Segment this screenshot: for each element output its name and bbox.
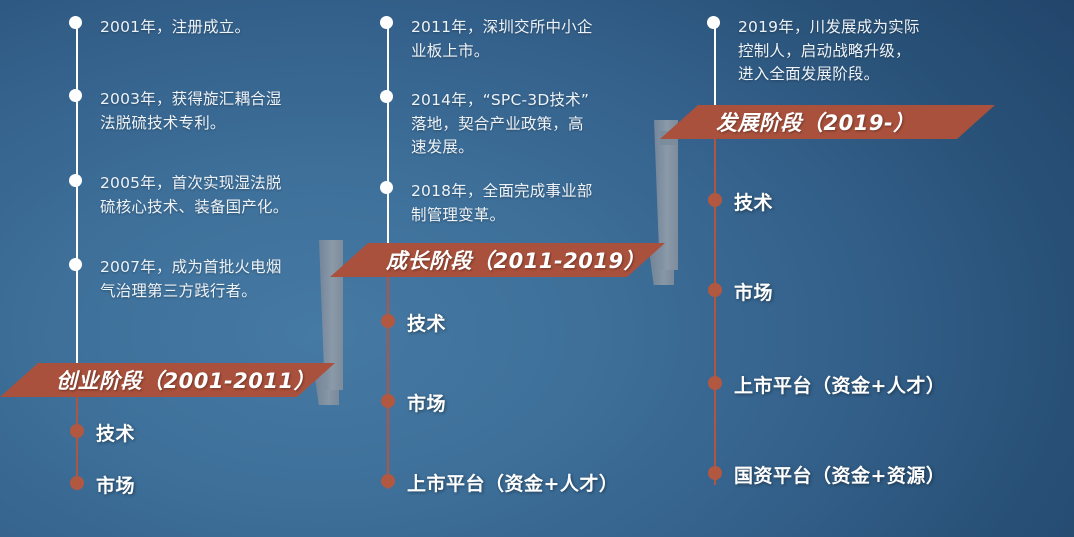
keyword-label-s3-k4: 国资平台（资金+资源） [734,461,945,488]
keyword-label-s3-k1: 技术 [734,188,773,215]
stage-banner-1[interactable]: 创业阶段（2001-2011） [0,363,335,397]
event-line: 硫核心技术、装备国产化。 [100,196,288,220]
keyword-label-s2-k3: 上市平台（资金+人才） [407,469,618,496]
event-line: 2007年，成为首批火电烟 [100,256,282,280]
event-line: 速发展。 [411,136,589,160]
keyword-label-s1-k2: 市场 [96,471,135,498]
stage-banner-3[interactable]: 发展阶段（2019-） [660,105,995,139]
event-line: 2003年，获得旋汇耦合湿 [100,88,282,112]
stage-banner-2[interactable]: 成长阶段（2011-2019） [330,243,665,277]
event-text-s1-e2: 2003年，获得旋汇耦合湿 法脱硫技术专利。 [100,88,282,135]
timeline-dot-s3-e1 [707,16,720,29]
event-text-s3-e1: 2019年，川发展成为实际 控制人，启动战略升级， 进入全面发展阶段。 [738,16,920,87]
timeline-dot-s2-e1 [380,16,393,29]
keyword-dot-s2-k1 [381,314,395,328]
event-line: 制管理变革。 [411,204,593,228]
stage-banner-3-label: 发展阶段（2019-） [716,107,915,137]
timeline-dot-s1-e1 [69,16,82,29]
event-line: 法脱硫技术专利。 [100,112,282,136]
event-text-s1-e1: 2001年，注册成立。 [100,16,250,40]
keyword-label-s3-k3: 上市平台（资金+人才） [734,371,945,398]
event-line: 业板上市。 [411,40,593,64]
keyword-dot-s3-k2 [708,283,722,297]
event-line: 2001年，注册成立。 [100,16,250,40]
event-line: 气治理第三方践行者。 [100,280,282,304]
event-text-s1-e4: 2007年，成为首批火电烟 气治理第三方践行者。 [100,256,282,303]
keyword-dot-s1-k2 [70,476,84,490]
event-line: 2011年，深圳交所中小企 [411,16,593,40]
timeline-dot-s2-e3 [380,181,393,194]
event-line: 进入全面发展阶段。 [738,63,920,87]
stage-banner-1-label: 创业阶段（2001-2011） [56,365,315,395]
timeline-dot-s1-e3 [69,174,82,187]
event-text-s2-e1: 2011年，深圳交所中小企 业板上市。 [411,16,593,63]
timeline-dot-s2-e2 [380,90,393,103]
slide-canvas: 2001年，注册成立。 2003年，获得旋汇耦合湿 法脱硫技术专利。 2005年… [0,0,1074,537]
event-line: 2014年，“SPC-3D技术” [411,89,589,113]
event-line: 2018年，全面完成事业部 [411,180,593,204]
keyword-dot-s3-k4 [708,466,722,480]
event-text-s2-e2: 2014年，“SPC-3D技术” 落地，契合产业政策，高 速发展。 [411,89,589,160]
keyword-label-s2-k1: 技术 [407,309,446,336]
timeline-dot-s1-e4 [69,258,82,271]
keyword-label-s2-k2: 市场 [407,389,446,416]
event-text-s1-e3: 2005年，首次实现湿法脱 硫核心技术、装备国产化。 [100,172,288,219]
keyword-dot-s2-k3 [381,474,395,488]
event-line: 控制人，启动战略升级， [738,40,920,64]
timeline-line-stage-3-lower [714,130,716,485]
timeline-dot-s1-e2 [69,89,82,102]
keyword-dot-s3-k1 [708,193,722,207]
stage-banner-2-label: 成长阶段（2011-2019） [386,245,645,275]
event-line: 落地，契合产业政策，高 [411,113,589,137]
event-line: 2019年，川发展成为实际 [738,16,920,40]
keyword-dot-s3-k3 [708,376,722,390]
event-text-s2-e3: 2018年，全面完成事业部 制管理变革。 [411,180,593,227]
event-line: 2005年，首次实现湿法脱 [100,172,288,196]
keyword-label-s3-k2: 市场 [734,278,773,305]
keyword-label-s1-k1: 技术 [96,419,135,446]
keyword-dot-s2-k2 [381,394,395,408]
timeline-line-stage-2-upper [387,22,389,252]
timeline-line-stage-1-upper [76,22,78,372]
timeline-line-stage-2-lower [387,252,389,489]
keyword-dot-s1-k1 [70,424,84,438]
